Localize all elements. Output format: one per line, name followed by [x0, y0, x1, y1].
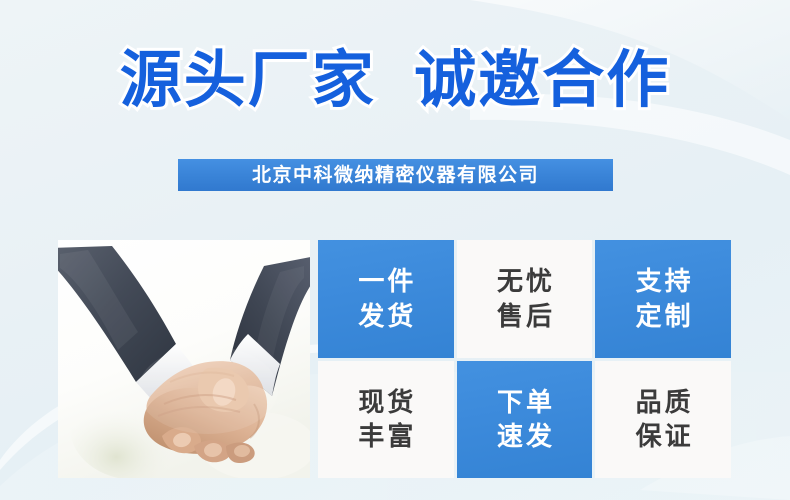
feature-quality-guarantee[interactable]: 品质保证 [595, 361, 731, 479]
handshake-photo [58, 240, 310, 478]
feature-rich-stock[interactable]: 现货丰富 [318, 361, 454, 479]
feature-line-2: 定制 [633, 299, 694, 333]
feature-worry-free-service[interactable]: 无忧售后 [457, 240, 593, 358]
feature-line-1: 现货 [355, 385, 416, 419]
banner-headline: 源头厂家 诚邀合作 [0, 42, 790, 120]
feature-line-2: 丰富 [355, 419, 416, 453]
company-name-bar: 北京中科微纳精密仪器有限公司 [178, 159, 613, 191]
feature-grid: 一件发货无忧售后支持定制现货丰富下单速发品质保证 [318, 240, 731, 478]
feature-line-2: 发货 [355, 299, 416, 333]
feature-line-2: 速发 [494, 419, 555, 453]
feature-line-1: 支持 [633, 264, 694, 298]
feature-line-1: 一件 [355, 264, 416, 298]
company-name-text: 北京中科微纳精密仪器有限公司 [252, 166, 539, 185]
feature-line-2: 售后 [494, 299, 555, 333]
feature-line-1: 品质 [633, 385, 694, 419]
feature-line-2: 保证 [633, 419, 694, 453]
feature-line-1: 无忧 [494, 264, 555, 298]
feature-line-1: 下单 [494, 385, 555, 419]
promo-banner: 源头厂家 诚邀合作 北京中科微纳精密仪器有限公司 [0, 0, 790, 500]
feature-one-piece-shipping[interactable]: 一件发货 [318, 240, 454, 358]
feature-fast-dispatch[interactable]: 下单速发 [457, 361, 593, 479]
handshake-illustration [58, 240, 310, 478]
feature-customization[interactable]: 支持定制 [595, 240, 731, 358]
